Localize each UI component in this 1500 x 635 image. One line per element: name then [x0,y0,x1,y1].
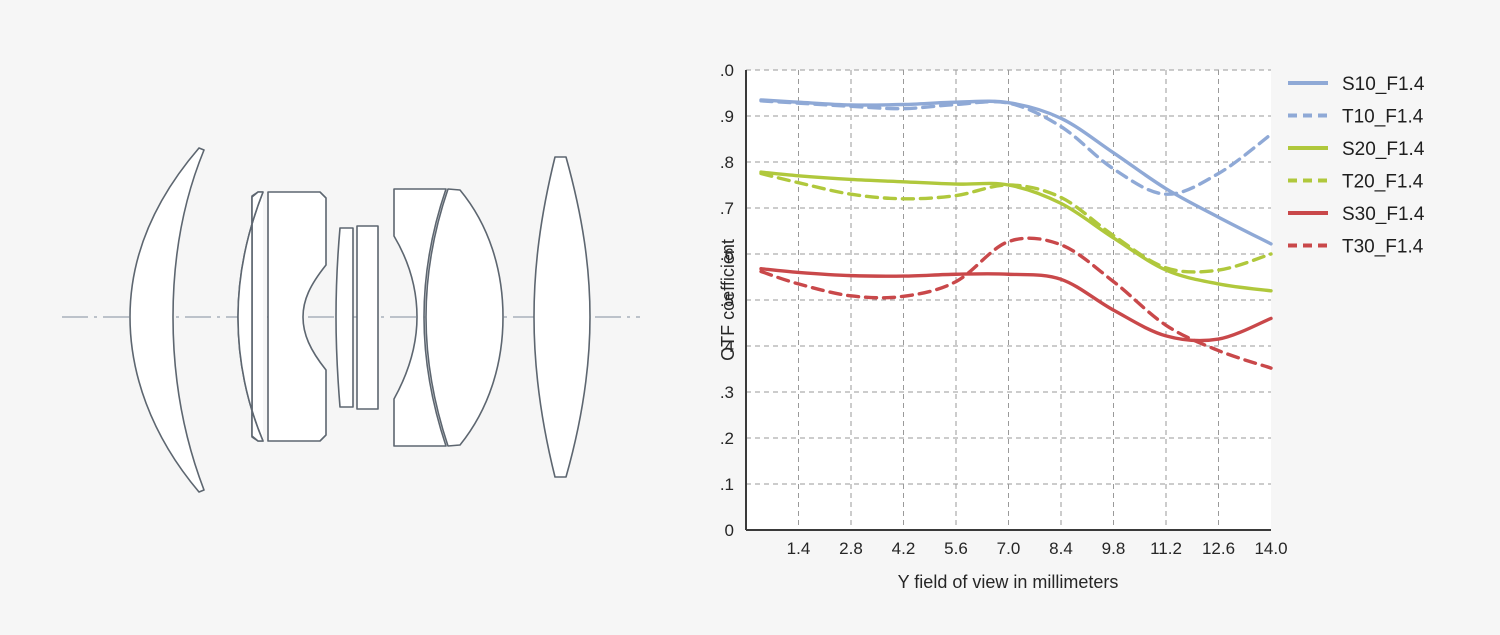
legend-label-t20-f1-4: T20_F1.4 [1342,172,1424,193]
x-axis-title: Y field of view in millimeters [898,572,1119,592]
y-tick-label: 0.1 [720,475,734,494]
y-tick-label: 0.9 [720,107,734,126]
lens-element-1-meniscus [130,148,204,492]
otf-chart-panel: 00.10.20.30.40.50.60.70.80.91.0 1.42.84.… [720,0,1500,635]
legend-label-t10-f1-4: T10_F1.4 [1342,107,1424,128]
y-tick-label: 0 [725,521,734,540]
x-tick-label: 14.0 [1254,539,1287,558]
lens-diagram-panel [0,0,720,635]
y-tick-label: 0.8 [720,153,734,172]
y-tick-label: 0.7 [720,199,734,218]
lens-element-7-biconvex [426,189,503,446]
legend-label-s20-f1-4: S20_F1.4 [1342,139,1425,160]
x-tick-label: 1.4 [787,539,811,558]
x-tick-labels: 1.42.84.25.67.08.49.811.212.614.0 [787,539,1288,558]
y-axis-title: OTF coefficient [720,239,738,361]
x-tick-label: 4.2 [892,539,916,558]
x-tick-label: 7.0 [997,539,1021,558]
legend-label-t30-f1-4: T30_F1.4 [1342,237,1424,258]
y-tick-label: 0.3 [720,383,734,402]
x-tick-label: 5.6 [944,539,968,558]
lens-diagram-svg [0,0,720,635]
otf-chart-svg: 00.10.20.30.40.50.60.70.80.91.0 1.42.84.… [720,0,1500,635]
legend-label-s30-f1-4: S30_F1.4 [1342,204,1425,225]
x-tick-label: 12.6 [1202,539,1235,558]
y-tick-label: 1.0 [720,61,734,80]
x-tick-label: 9.8 [1102,539,1126,558]
figure-root: 00.10.20.30.40.50.60.70.80.91.0 1.42.84.… [0,0,1500,635]
y-tick-label: 0.2 [720,429,734,448]
lens-element-5-thin-plate [357,226,378,409]
chart-legend: S10_F1.4T10_F1.4S20_F1.4T20_F1.4S30_F1.4… [1288,74,1425,258]
x-tick-label: 11.2 [1150,539,1182,558]
lens-element-4-thin-plate [336,228,353,407]
x-tick-label: 8.4 [1049,539,1073,558]
legend-label-s10-f1-4: S10_F1.4 [1342,74,1425,95]
lens-element-8-rear [534,157,590,477]
x-tick-label: 2.8 [839,539,863,558]
